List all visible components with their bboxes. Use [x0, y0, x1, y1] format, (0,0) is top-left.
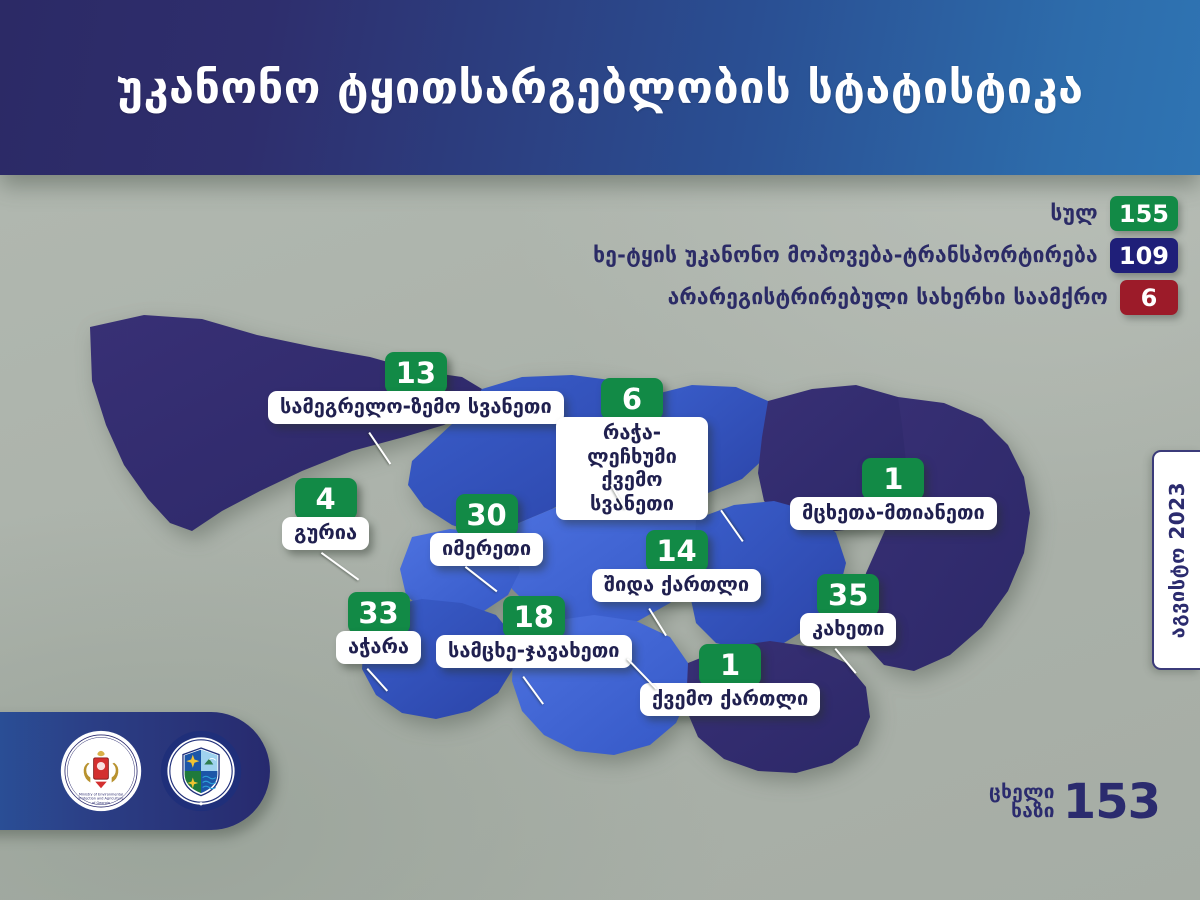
marker-shida-kartli: 14 შიდა ქართლი — [592, 530, 761, 602]
department-emblem-icon — [160, 730, 242, 812]
marker-label-samtskhe: სამცხე-ჯავახეთი — [436, 635, 632, 668]
marker-kakheti: 35 კახეთი — [800, 574, 896, 646]
map-svg — [52, 285, 1112, 785]
marker-racha-lechkhumi: 6 რაჭა-ლეჩხუმი ქვემო სვანეთი — [556, 378, 708, 520]
marker-label-kvemo-kartli: ქვემო ქართლი — [640, 683, 820, 716]
legend-row-total: სულ 155 — [458, 196, 1178, 231]
georgia-map — [52, 285, 1112, 785]
marker-guria: 4 გურია — [282, 478, 369, 550]
marker-imereti: 30 იმერეთი — [430, 494, 543, 566]
logo-pill: Ministry of Environmental Protection and… — [0, 712, 270, 830]
marker-samtskhe-javakheti: 18 სამცხე-ჯავახეთი — [436, 596, 632, 668]
hotline-label: ცხელი ხაზი — [989, 783, 1055, 822]
hotline-number: 153 — [1063, 780, 1160, 824]
marker-label-guria: გურია — [282, 517, 369, 550]
marker-kvemo-kartli: 1 ქვემო ქართლი — [640, 644, 820, 716]
date-tab: აგვისტო 2023 — [1152, 450, 1200, 670]
marker-count-mtskheta: 1 — [862, 458, 924, 500]
marker-count-imereti: 30 — [456, 494, 518, 536]
marker-count-kakheti: 35 — [817, 574, 879, 616]
marker-label-kakheti: კახეთი — [800, 613, 896, 646]
marker-label-mtskheta: მცხეთა-მთიანეთი — [790, 497, 997, 530]
legend-value-total: 155 — [1110, 196, 1178, 231]
header-banner: უკანონო ტყითსარგებლობის სტატისტიკა — [0, 0, 1200, 175]
legend-value-unregistered-sawmill: 6 — [1120, 280, 1178, 315]
marker-adjara: 33 აჭარა — [336, 592, 421, 664]
marker-count-racha: 6 — [601, 378, 663, 420]
infographic-canvas: უკანონო ტყითსარგებლობის სტატისტიკა სულ 1… — [0, 0, 1200, 900]
date-tab-label: აგვისტო 2023 — [1165, 482, 1189, 638]
marker-label-racha: რაჭა-ლეჩხუმი ქვემო სვანეთი — [556, 417, 708, 520]
svg-text:of Georgia: of Georgia — [92, 801, 110, 805]
marker-label-samegrelo: სამეგრელო-ზემო სვანეთი — [268, 391, 564, 424]
marker-count-guria: 4 — [295, 478, 357, 520]
legend-row-illegal-logging: ხე-ტყის უკანონო მოპოვება-ტრანსპორტირება … — [458, 238, 1178, 273]
marker-count-kvemo-kartli: 1 — [699, 644, 761, 686]
legend-value-illegal-logging: 109 — [1110, 238, 1178, 273]
marker-count-samegrelo: 13 — [385, 352, 447, 394]
marker-label-adjara: აჭარა — [336, 631, 421, 664]
marker-samegrelo-zemo-svaneti: 13 სამეგრელო-ზემო სვანეთი — [268, 352, 564, 424]
marker-label-imereti: იმერეთი — [430, 533, 543, 566]
legend-label-illegal-logging: ხე-ტყის უკანონო მოპოვება-ტრანსპორტირება — [593, 244, 1098, 267]
legend-label-total: სულ — [1050, 202, 1098, 225]
page-title: უკანონო ტყითსარგებლობის სტატისტიკა — [116, 65, 1083, 110]
ministry-emblem-icon: Ministry of Environmental Protection and… — [60, 730, 142, 812]
marker-mtskheta-mtianeti: 1 მცხეთა-მთიანეთი — [790, 458, 997, 530]
marker-count-adjara: 33 — [348, 592, 410, 634]
marker-count-shida-kartli: 14 — [646, 530, 708, 572]
hotline: ცხელი ხაზი 153 — [989, 780, 1160, 824]
hotline-label-line2: ხაზი — [989, 802, 1055, 821]
marker-count-samtskhe: 18 — [503, 596, 565, 638]
